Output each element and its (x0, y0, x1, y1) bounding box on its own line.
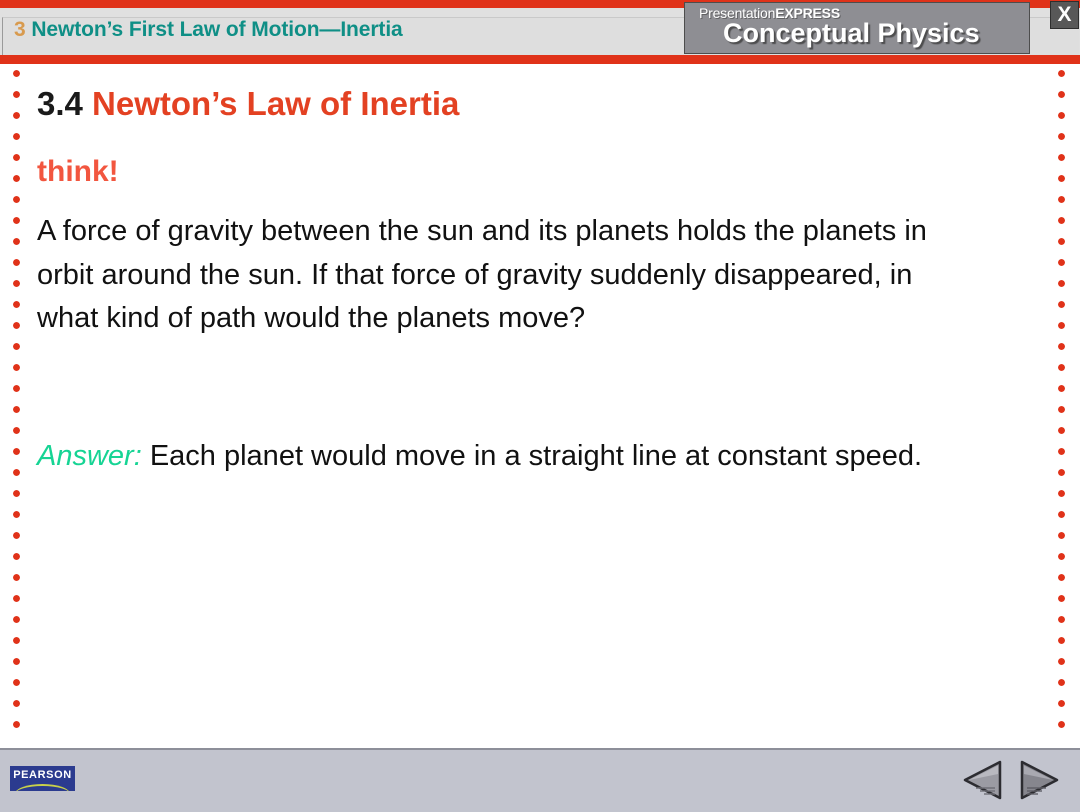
chapter-number: 3 (14, 18, 26, 41)
section-number: 3.4 (37, 85, 83, 122)
dotted-border-right (1058, 70, 1065, 742)
pearson-logo: PEARSON (10, 766, 75, 791)
answer-text: Each planet would move in a straight lin… (150, 440, 922, 472)
slide-canvas (0, 64, 1080, 748)
next-slide-button[interactable] (1018, 758, 1060, 802)
header-accent-rule (0, 55, 1080, 64)
pearson-wordmark: PEARSON (10, 769, 75, 781)
triangle-left-icon (962, 758, 1004, 802)
chapter-title-text: Newton’s First Law of Motion—Inertia (31, 18, 402, 41)
previous-slide-button[interactable] (962, 758, 1004, 802)
close-icon[interactable]: X (1050, 1, 1079, 29)
section-title: Newton’s Law of Inertia (92, 85, 459, 122)
footer-bar (0, 748, 1080, 812)
conceptual-physics-label: Conceptual Physics (723, 18, 980, 49)
brand-banner: PresentationEXPRESS Conceptual Physics (684, 2, 1030, 54)
answer-block: Answer: Each planet would move in a stra… (37, 435, 942, 479)
chapter-heading: 3 Newton’s First Law of Motion—Inertia (14, 18, 403, 42)
page-title: 3.4 Newton’s Law of Inertia (37, 85, 459, 123)
question-text: A force of gravity between the sun and i… (37, 210, 952, 341)
think-heading: think! (37, 155, 119, 189)
dotted-border-left (13, 70, 20, 742)
pearson-arc-icon (15, 784, 70, 791)
answer-label: Answer: (37, 440, 142, 472)
triangle-right-icon (1018, 758, 1060, 802)
